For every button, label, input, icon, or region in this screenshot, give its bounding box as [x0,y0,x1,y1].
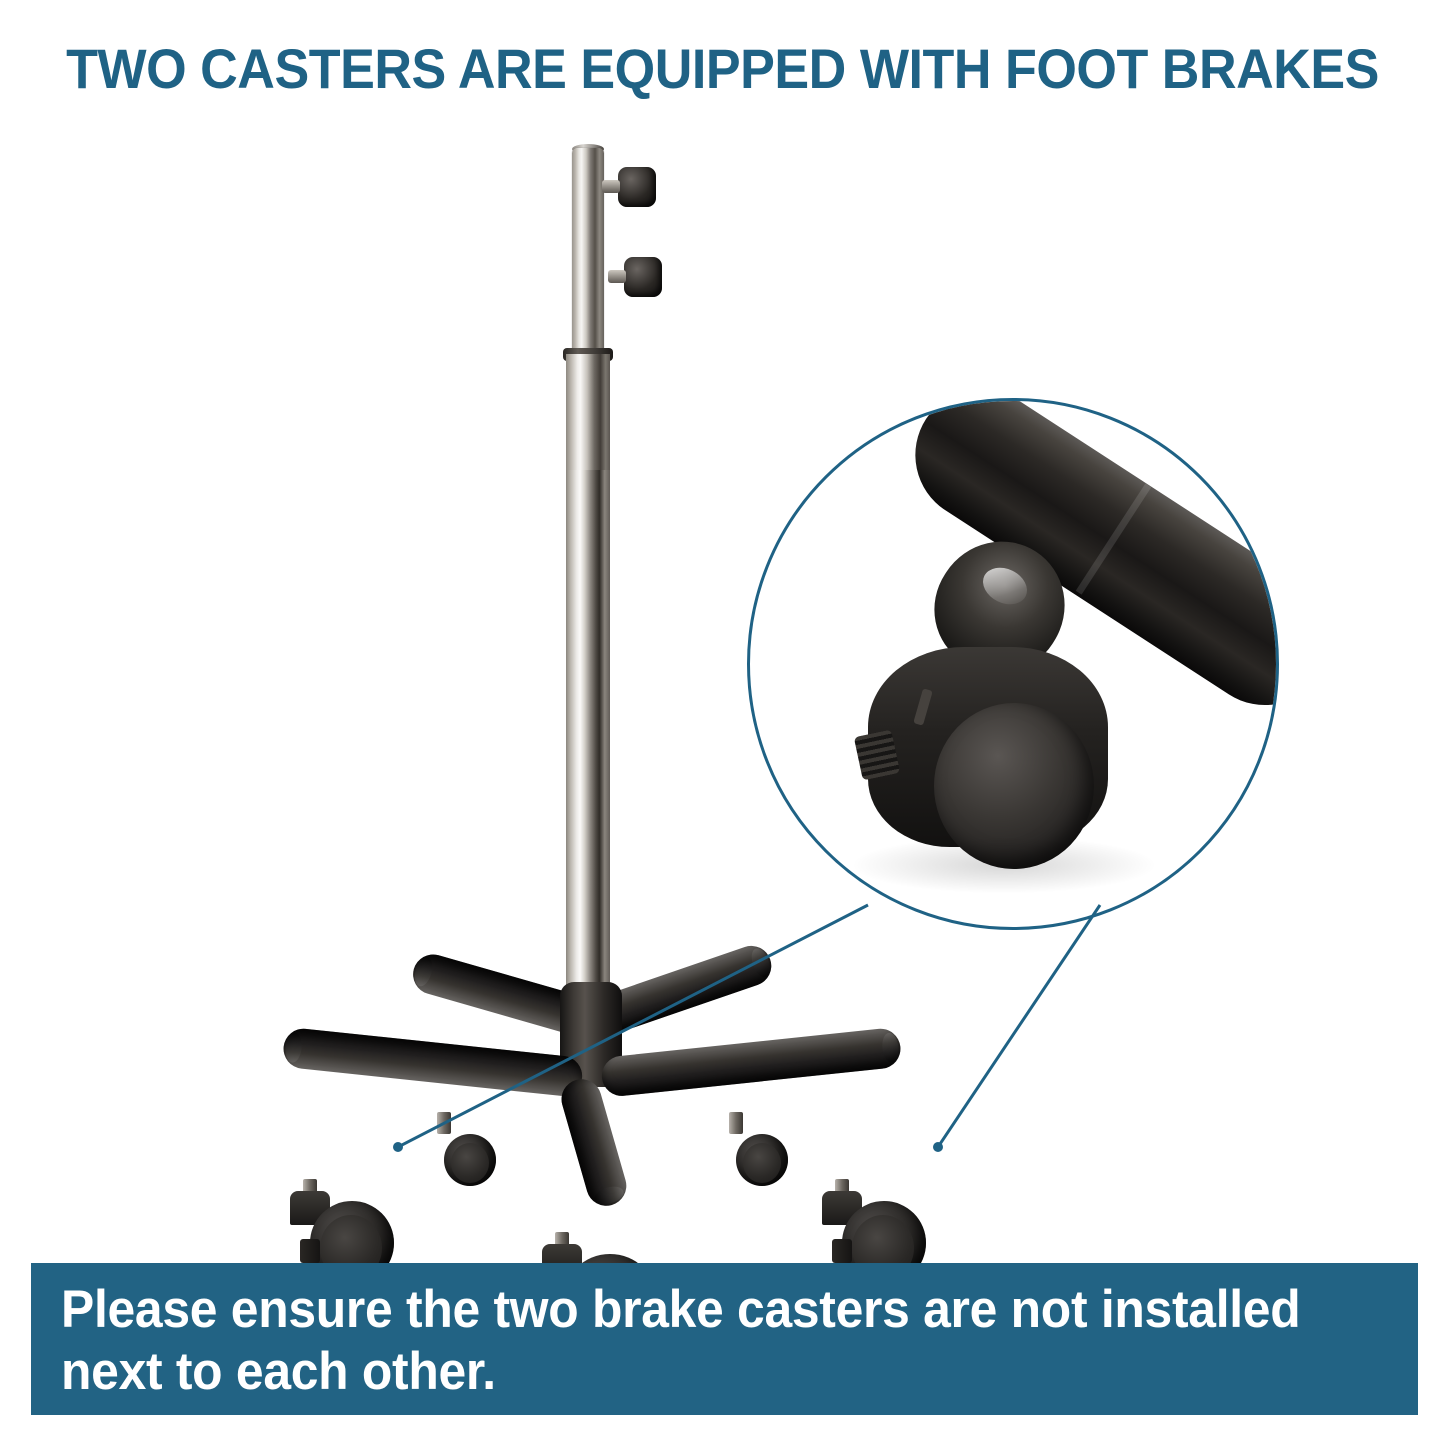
height-adjustment-knob-lower [624,257,662,297]
caption-text: Please ensure the two brake casters are … [61,1279,1308,1403]
zoom-drop-shadow [854,837,1154,893]
infographic-page: TWO CASTERS ARE EQUIPPED WITH FOOT BRAKE… [0,0,1445,1445]
caster-wheel-face [743,1143,781,1183]
caster-stem [437,1112,451,1134]
magnifier-circle [747,398,1279,930]
caster-wheel [736,1134,788,1186]
caster-wheel [444,1134,496,1186]
base-leg-front-right [600,1027,903,1098]
caption-banner: Please ensure the two brake casters are … [31,1263,1418,1415]
caster-wheel-face [451,1143,489,1183]
pole-middle-tube [566,354,610,474]
foot-brake-lever-icon [300,1239,320,1263]
height-adjustment-knob-upper [618,167,656,207]
pole-lower-tube [566,470,610,1030]
foot-brake-lever-icon [832,1239,852,1263]
page-title: TWO CASTERS ARE EQUIPPED WITH FOOT BRAKE… [51,36,1395,101]
pole-upper-tube [572,148,604,368]
base-leg-front-left [282,1027,585,1098]
caster-stem [729,1112,743,1134]
